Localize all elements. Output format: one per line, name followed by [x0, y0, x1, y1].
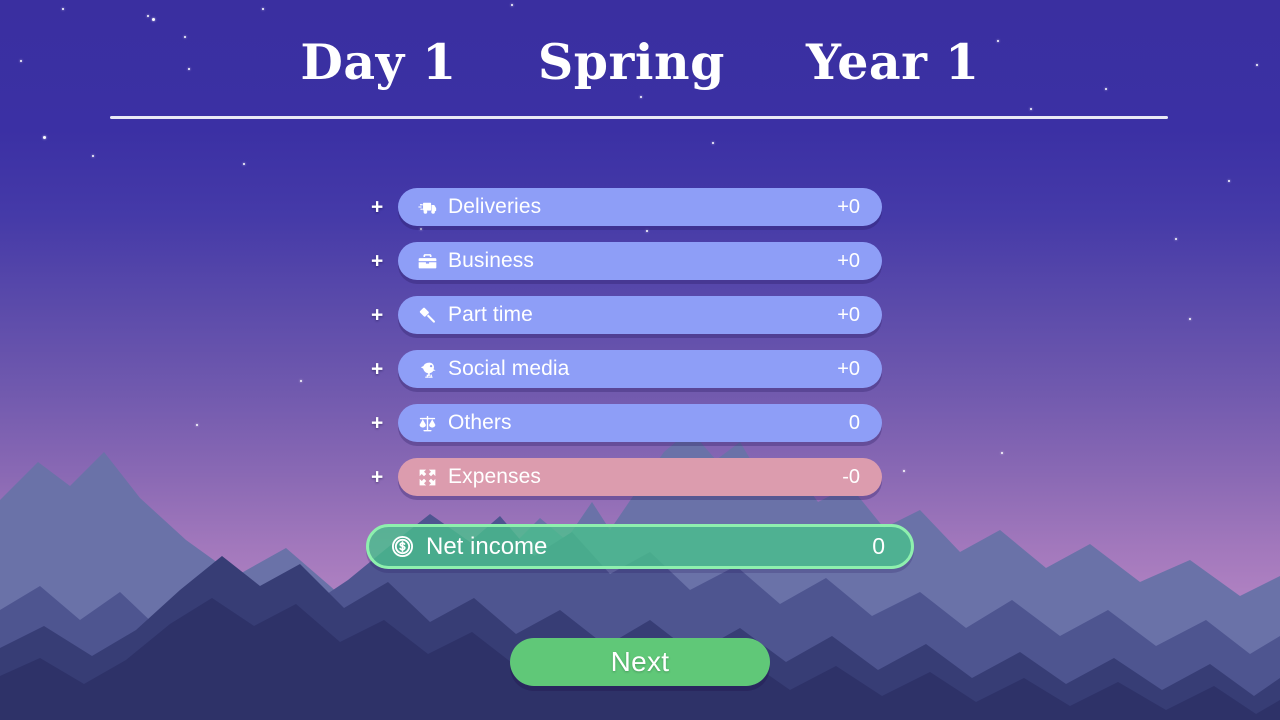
ledger-item-value: +0	[837, 196, 860, 219]
ledger-item-social-media[interactable]: Social media +0	[398, 350, 882, 388]
ledger-item-value: +0	[837, 358, 860, 381]
ledger-row: + Deliveries +0	[0, 188, 1280, 226]
bird-icon	[416, 358, 438, 380]
ledger-item-value: -0	[842, 466, 860, 489]
plus-sign: +	[371, 197, 383, 218]
ledger-item-part-time[interactable]: Part time +0	[398, 296, 882, 334]
ledger-row: + Expenses -0	[0, 458, 1280, 496]
day-label: Day 1	[300, 38, 456, 87]
net-income-value: 0	[872, 533, 885, 560]
expand-arrows-icon	[416, 466, 438, 488]
net-income-pill[interactable]: Net income 0	[366, 524, 914, 569]
ledger-item-others[interactable]: Others 0	[398, 404, 882, 442]
ledger-item-value: +0	[837, 304, 860, 327]
date-title: Day 1 Spring Year 1	[0, 38, 1280, 87]
ledger-item-label: Others	[448, 411, 512, 435]
delivery-truck-icon	[416, 196, 438, 218]
ledger-item-label: Social media	[448, 357, 569, 381]
season-label: Spring	[538, 38, 725, 87]
ledger-item-label: Business	[448, 249, 534, 273]
balance-scales-icon	[416, 412, 438, 434]
date-header: Day 1 Spring Year 1	[0, 0, 1280, 87]
income-ledger: + Deliveries +0 +	[0, 188, 1280, 512]
dollar-circle-icon	[389, 534, 415, 560]
ledger-row: + Part time +0	[0, 296, 1280, 334]
ledger-item-label: Deliveries	[448, 195, 541, 219]
briefcase-icon	[416, 250, 438, 272]
hammer-icon	[416, 304, 438, 326]
ledger-item-value: 0	[849, 412, 860, 435]
plus-sign: +	[371, 413, 383, 434]
net-income-row: Net income 0	[366, 524, 914, 569]
ledger-item-label: Expenses	[448, 465, 541, 489]
header-divider	[110, 116, 1168, 119]
plus-sign: +	[371, 251, 383, 272]
ledger-row: + Business +0	[0, 242, 1280, 280]
net-income-label: Net income	[426, 533, 547, 561]
ledger-item-value: +0	[837, 250, 860, 273]
plus-sign: +	[371, 467, 383, 488]
ledger-row: + Social media +0	[0, 350, 1280, 388]
ledger-item-business[interactable]: Business +0	[398, 242, 882, 280]
ledger-item-deliveries[interactable]: Deliveries +0	[398, 188, 882, 226]
next-button[interactable]: Next	[510, 638, 770, 686]
year-label: Year 1	[806, 38, 980, 87]
plus-sign: +	[371, 305, 383, 326]
ledger-item-expenses[interactable]: Expenses -0	[398, 458, 882, 496]
plus-sign: +	[371, 359, 383, 380]
ledger-row: + Others 0	[0, 404, 1280, 442]
ledger-item-label: Part time	[448, 303, 533, 327]
game-summary-screen: Day 1 Spring Year 1 + Deliveries	[0, 0, 1280, 720]
